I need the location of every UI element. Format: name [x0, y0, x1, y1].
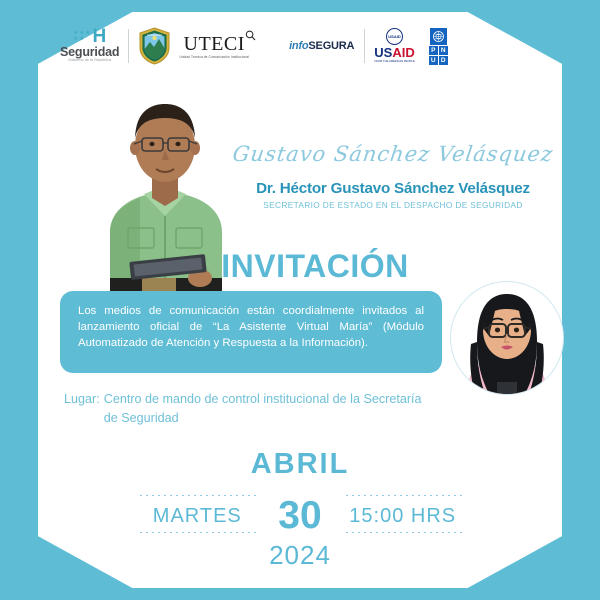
uteci-subtitle: Unidad Técnica de Comunicación Instituci… [179, 55, 249, 59]
event-weekday: MARTES [153, 500, 242, 532]
stars-icon: ★★★★★ [74, 31, 91, 42]
usaid-logo: USAID USAID FROM THE AMERICAN PEOPLE [374, 28, 414, 64]
seguridad-label: Seguridad [60, 46, 119, 59]
dotted-rule-bottom-right [344, 532, 462, 537]
seguridad-subtitle: Gobierno de la República [68, 59, 111, 63]
invitation-poster: ★★★★★ H Seguridad Gobierno de la Repúbli… [0, 0, 600, 600]
handwritten-signature: Gustavo Sánchez Velásquez [230, 142, 555, 166]
logo-divider-1 [128, 29, 129, 63]
uteci-logo: UTECI Unidad Técnica de Comunicación Ins… [179, 34, 249, 59]
usaid-seal-text: USAID [388, 35, 400, 39]
logo-bar: ★★★★★ H Seguridad Gobierno de la Repúbli… [60, 22, 470, 70]
magnifying-glass-icon [245, 28, 256, 39]
venue-line: Lugar:Centro de mando de control institu… [64, 390, 464, 428]
seguridad-mark: ★★★★★ H [74, 29, 106, 44]
svg-text:HONDURAS: HONDURAS [147, 33, 162, 37]
official-name: Dr. Héctor Gustavo Sánchez Velásquez [232, 180, 554, 197]
venue-value: Centro de mando de control institucional… [104, 390, 424, 428]
usaid-wordmark: USAID [374, 46, 414, 60]
usaid-seal-icon: USAID [386, 28, 403, 45]
event-date-row: MARTES 30 15:00 HRS [0, 492, 600, 540]
invitation-body-box: Los medios de comunicación están coordia… [60, 291, 442, 373]
usaid-part1: US [374, 45, 392, 60]
infosegura-part2: SEGURA [308, 41, 354, 52]
seguridad-letter: H [93, 29, 106, 44]
dotted-rule-bottom-left [138, 532, 256, 537]
honduras-police-shield-icon: HONDURAS [138, 27, 171, 65]
infosegura-logo: infoSEGURA [289, 41, 354, 52]
event-day: 30 [278, 496, 321, 536]
pnud-letter-u: U [429, 56, 438, 65]
event-weekday-cell: MARTES [138, 492, 256, 540]
logo-divider-2 [364, 29, 365, 63]
avatar [450, 281, 564, 395]
uteci-wordmark: UTECI [184, 34, 245, 54]
pnud-letter-d: D [439, 56, 448, 65]
pnud-letters: P N U D [429, 46, 448, 65]
invitation-body-text: Los medios de comunicación están coordia… [78, 303, 424, 351]
un-emblem-icon [430, 28, 447, 45]
event-time-cell: 15:00 HRS [344, 492, 462, 540]
usaid-part2: AID [392, 45, 414, 60]
official-title: SECRETARIO DE ESTADO EN EL DESPACHO DE S… [232, 200, 554, 210]
event-time: 15:00 HRS [349, 500, 456, 532]
pnud-letter-p: P [429, 46, 438, 55]
pnud-letter-n: N [439, 46, 448, 55]
event-year: 2024 [0, 540, 600, 571]
usaid-subtitle: FROM THE AMERICAN PEOPLE [374, 61, 414, 64]
event-month: ABRIL [0, 448, 600, 481]
infosegura-part1: info [289, 41, 308, 52]
venue-label: Lugar: [64, 392, 100, 406]
pnud-logo: P N U D [429, 28, 448, 65]
seguridad-logo: ★★★★★ H Seguridad Gobierno de la Repúbli… [60, 29, 119, 63]
page-title: INVITACIÓN [190, 248, 440, 285]
